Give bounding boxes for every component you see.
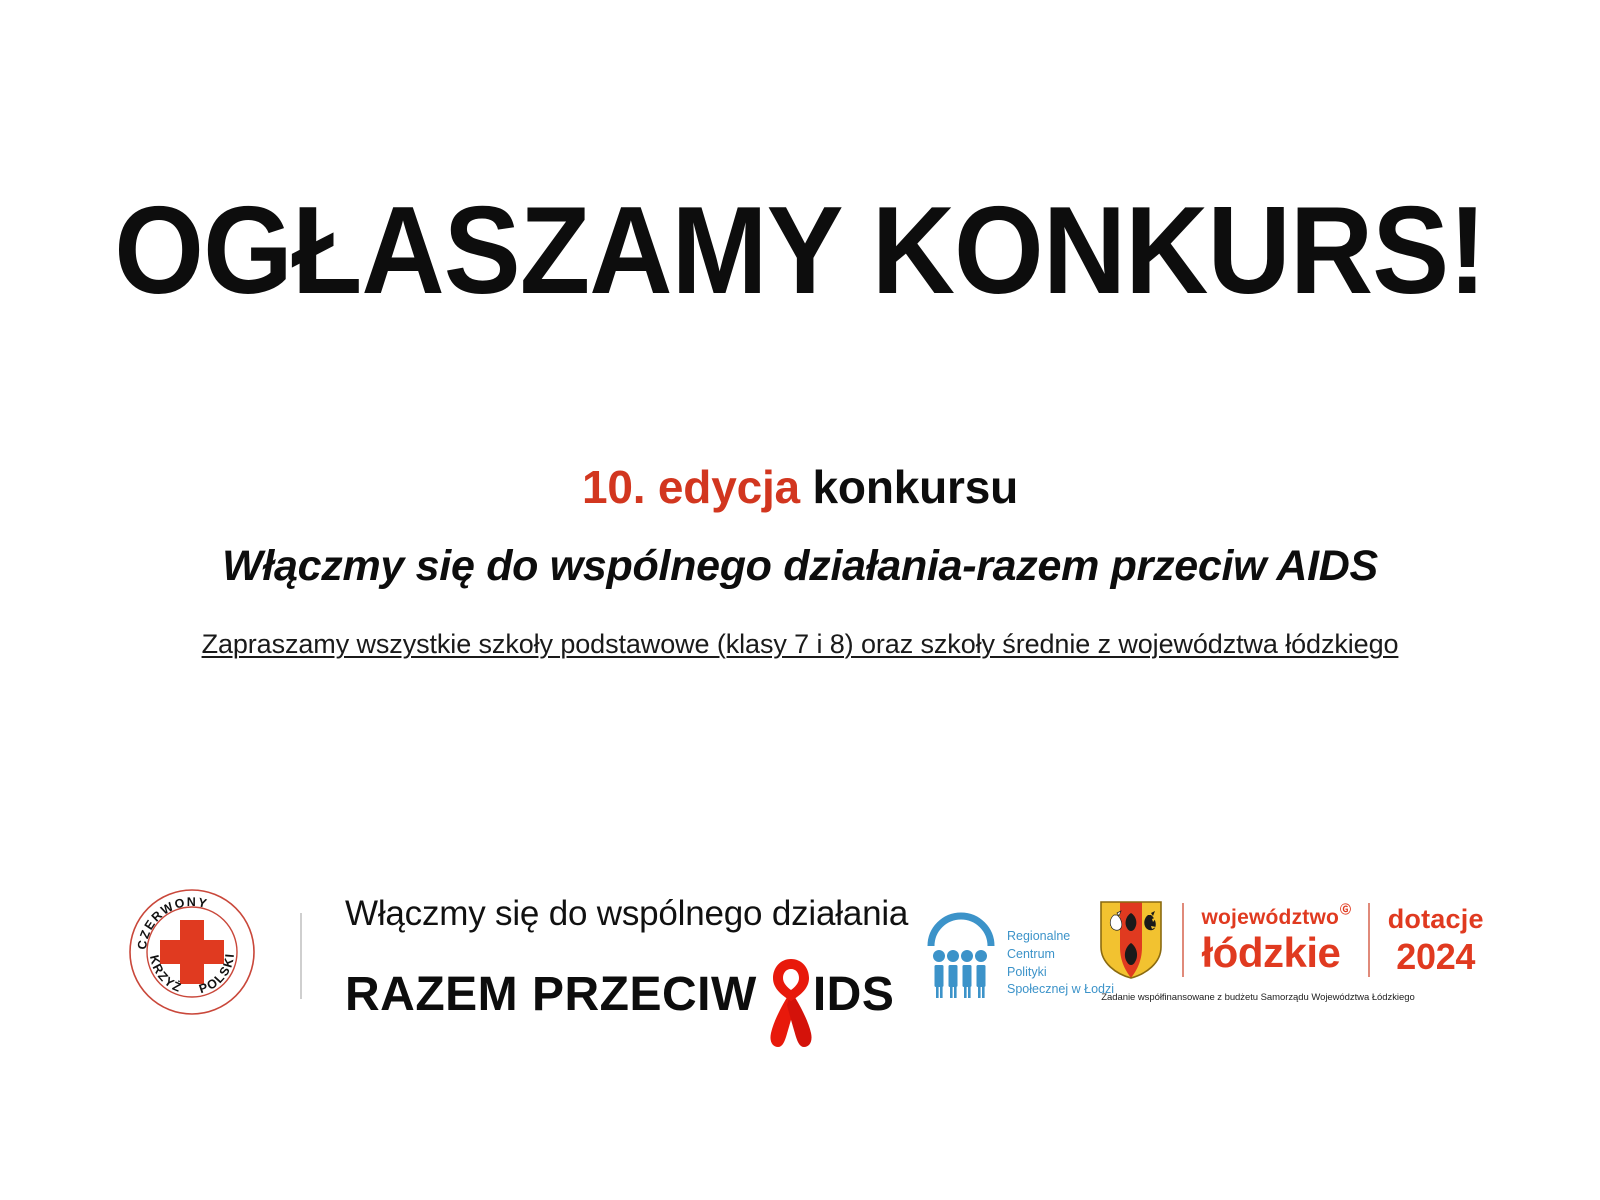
- subtitle-block: 10. edycja konkursu Włączmy się do wspól…: [0, 462, 1600, 660]
- funding-note: Zadanie współfinansowane z budżetu Samor…: [1098, 992, 1418, 1003]
- dotacje-year: 2024: [1388, 939, 1484, 975]
- lodzkie-coat-of-arms-icon: [1098, 899, 1164, 981]
- campaign-wordmark-after: IDS: [813, 971, 895, 1019]
- edition-line: 10. edycja konkursu: [0, 462, 1600, 514]
- lodzkie-wordmark: województwoⒼ łódzkie: [1202, 907, 1351, 974]
- aids-ribbon-icon: [767, 957, 815, 1049]
- edition-suffix: konkursu: [800, 461, 1018, 513]
- logo-divider: [300, 913, 302, 999]
- lodzkie-row: województwoⒼ łódzkie dotacje 2024: [1098, 892, 1418, 988]
- dotacje-label: dotacje: [1388, 906, 1484, 933]
- lodzkie-woj-text: województwo: [1202, 906, 1340, 929]
- rcps-logo: Regionalne Centrum Polityki Społecznej w…: [925, 900, 1090, 1005]
- campaign-tagline: Włączmy się do wspólnego działania: [345, 896, 845, 931]
- page-title: OGŁASZAMY KONKURS!: [56, 186, 1544, 316]
- campaign-wordmark: RAZEM PRZECIW IDS: [345, 949, 845, 1041]
- pck-logo: CZERWONY POLSKI KRZYŻ: [128, 888, 256, 1016]
- footer-logo-strip: CZERWONY POLSKI KRZYŻ Włączmy się do wsp…: [0, 880, 1600, 1030]
- campaign-wordmark-before: RAZEM PRZECIW: [345, 971, 757, 1019]
- dotacje-block: dotacje 2024: [1388, 906, 1484, 975]
- invitation-text: Zapraszamy wszystkie szkoły podstawowe (…: [0, 628, 1600, 660]
- contest-slogan: Włączmy się do wspólnego działania-razem…: [0, 542, 1600, 590]
- lodzkie-woj-label: województwoⒼ: [1202, 907, 1351, 928]
- lodzkie-registered-mark-icon: Ⓖ: [1340, 905, 1351, 916]
- lodzkie-rule-left: [1182, 903, 1184, 977]
- lodzkie-rule-right: [1368, 903, 1370, 977]
- edition-number: 10. edycja: [582, 461, 800, 513]
- lodzkie-name: łódzkie: [1202, 932, 1351, 974]
- lodzkie-lockup: województwoⒼ łódzkie dotacje 2024 Zadani…: [1098, 892, 1418, 1022]
- pck-emblem-icon: CZERWONY POLSKI KRZYŻ: [128, 888, 256, 1016]
- campaign-lockup: Włączmy się do wspólnego działania RAZEM…: [345, 896, 845, 1016]
- rcps-figures-icon: [925, 900, 997, 1000]
